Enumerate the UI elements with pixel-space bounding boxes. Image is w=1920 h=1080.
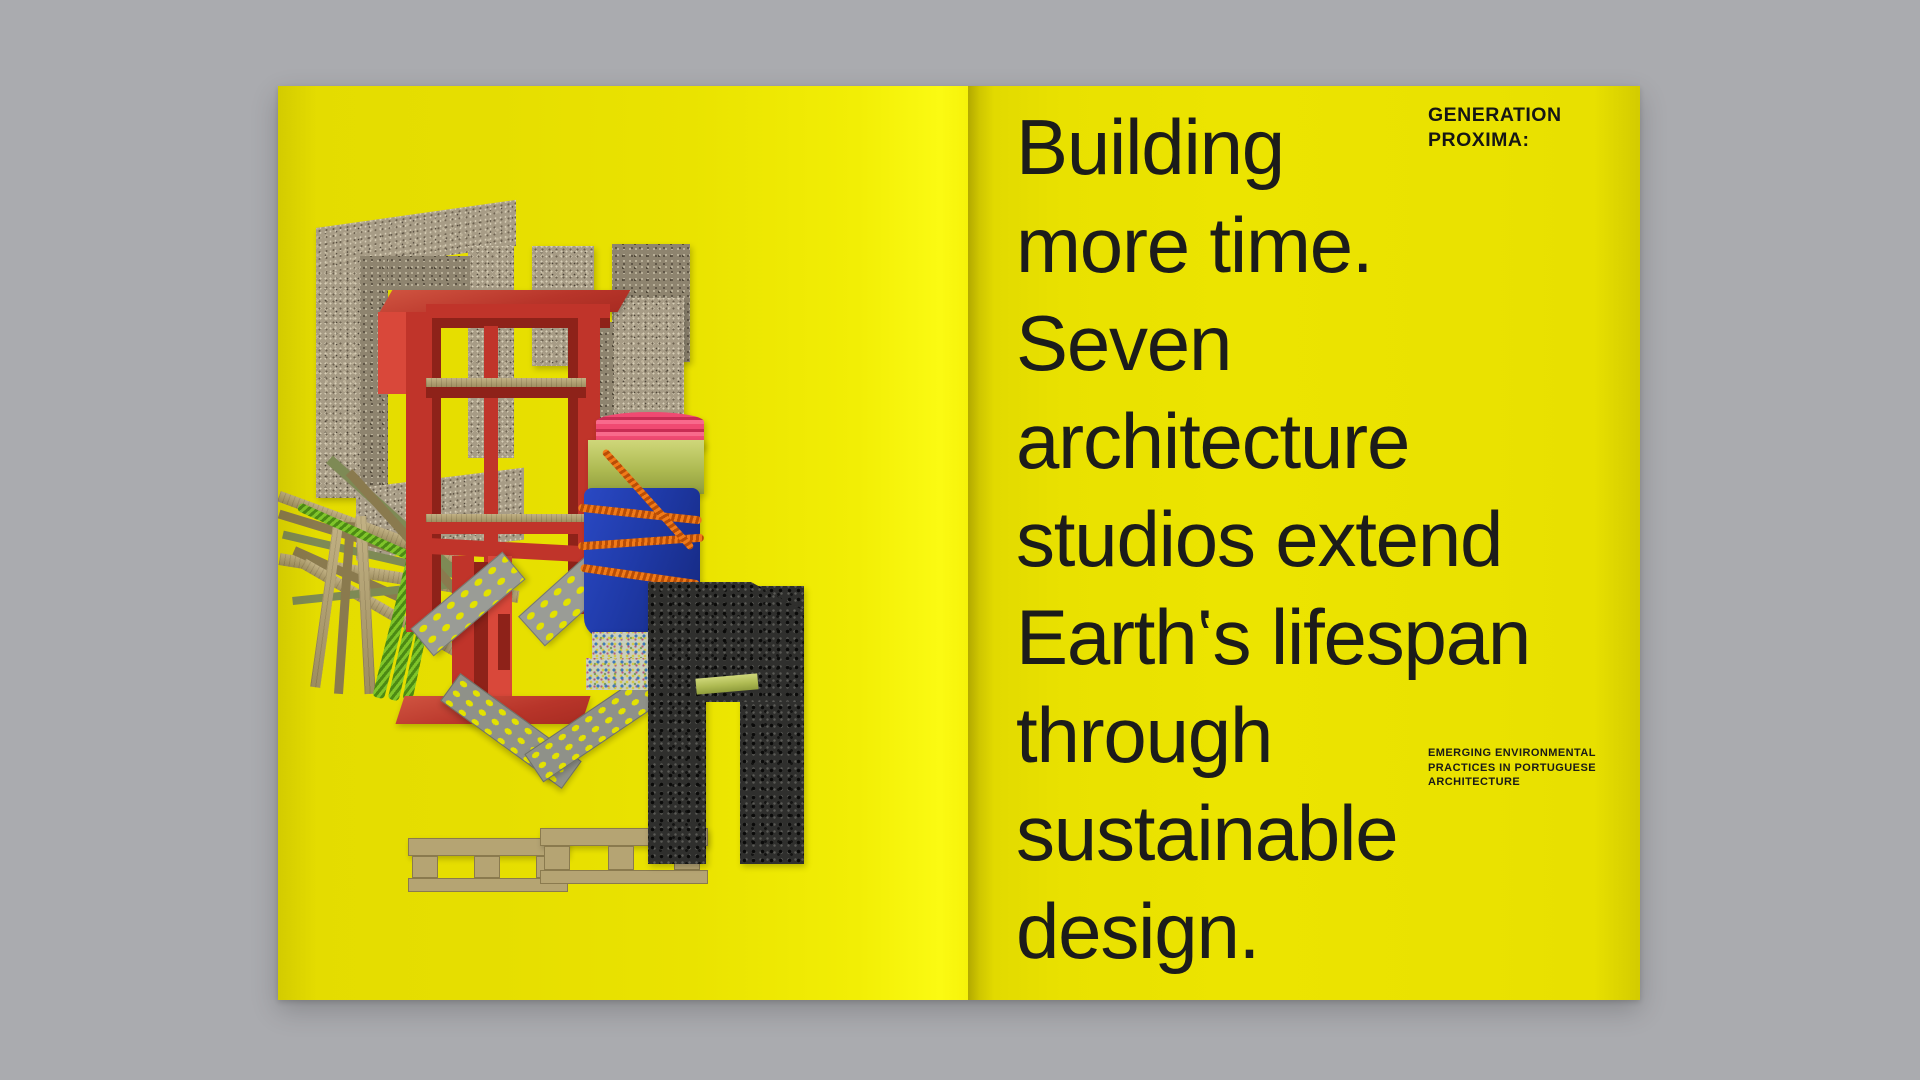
pallet-front-right-block-a	[544, 846, 570, 870]
pallet-front-left-block-b	[474, 856, 500, 878]
pallet-front-left-block-a	[412, 856, 438, 878]
concrete-block-u-left-lintel	[388, 256, 470, 290]
page-title: Building more time. Seven architecture s…	[1016, 98, 1636, 980]
red-frame-lower-shelf	[420, 520, 598, 534]
issue-kicker: GENERATION PROXIMA:	[1428, 103, 1628, 153]
subtitle-caption: EMERGING ENVIRONMENTAL PRACTICES IN PORT…	[1428, 746, 1628, 790]
red-frame-lower-board	[426, 514, 590, 522]
red-frame-shelf-board	[426, 378, 586, 387]
magazine-spread: Building more time. Seven architecture s…	[278, 86, 1640, 1000]
pallet-front-right-block-b	[608, 846, 634, 870]
red-frame-mid-shelf	[426, 386, 586, 398]
red-frame-left-post-edge	[432, 324, 441, 632]
red-frame-left-post	[406, 312, 432, 632]
pallet-front-right-bottom	[540, 870, 708, 884]
right-page: Building more time. Seven architecture s…	[968, 86, 1640, 1000]
construction-materials-collage	[278, 86, 968, 1000]
red-pedestal-cutout	[498, 614, 510, 670]
left-page	[278, 86, 968, 1000]
